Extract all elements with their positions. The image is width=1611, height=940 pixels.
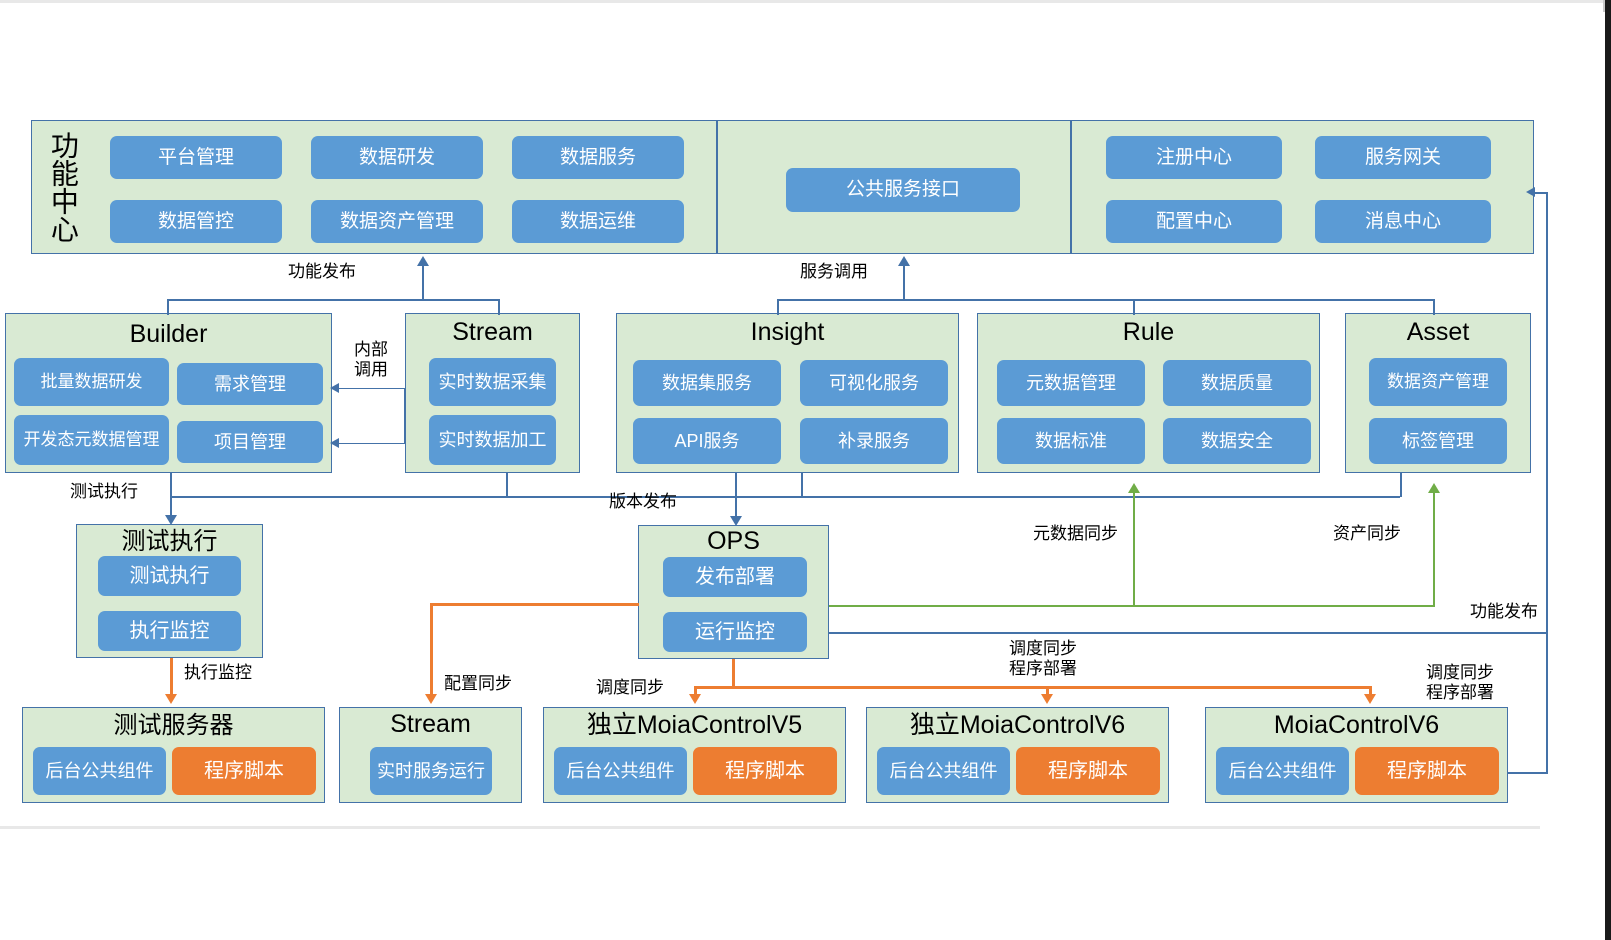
- chip-test-execution[interactable]: 测试执行: [98, 556, 241, 596]
- chip-requirement-management[interactable]: 需求管理: [177, 363, 323, 405]
- bus-right-top: [777, 299, 1434, 301]
- function-center-title-text: 功能中心: [48, 131, 78, 243]
- label-test-execute: 测试执行: [70, 482, 138, 502]
- page-edge-bottom: [0, 826, 1540, 829]
- chip-dataset-service[interactable]: 数据集服务: [633, 360, 781, 406]
- chip-label: 需求管理: [214, 374, 286, 394]
- chip-label: 数据集服务: [662, 373, 752, 393]
- chip-data-operation[interactable]: 数据运维: [512, 200, 684, 243]
- arrow-asset-sync: [1428, 483, 1440, 493]
- label-feature-publish-right: 功能发布: [1398, 602, 1538, 622]
- chip-label: 配置中心: [1156, 211, 1232, 232]
- chip-label: 执行监控: [130, 620, 210, 642]
- arrow-test-execute: [165, 515, 177, 525]
- arrow-metadata-sync: [1128, 483, 1140, 493]
- blue-right-riser: [1546, 192, 1548, 633]
- chip-backfill-service[interactable]: 补录服务: [800, 418, 948, 464]
- group-builder-title: Builder: [5, 322, 332, 347]
- chip-label: 实时数据加工: [439, 430, 547, 450]
- arrow-feature-publish-top: [417, 256, 429, 266]
- chip-label: 程序脚本: [725, 760, 805, 782]
- bus-left-drop-stream: [498, 299, 500, 315]
- label-metadata-sync: 元数据同步: [1033, 524, 1118, 544]
- group-insight-title: Insight: [616, 320, 959, 345]
- label-schedule-sync: 调度同步: [596, 678, 664, 698]
- blue-right-into-band: [1534, 192, 1548, 194]
- group-test-server-title: 测试服务器: [22, 714, 325, 738]
- chip-label: 数据运维: [560, 211, 636, 232]
- bus-left-drop-builder: [167, 299, 169, 315]
- chip-label: 实时服务运行: [377, 761, 485, 781]
- arrow-exec-monitor: [165, 694, 177, 704]
- arrow-internal-call-2: [330, 438, 339, 448]
- group-standalone-moiacontrolv5-title: 独立MoiaControlV5: [543, 713, 846, 738]
- chip-config-center[interactable]: 配置中心: [1106, 200, 1282, 243]
- label-feature-publish-top: 功能发布: [288, 262, 356, 282]
- chip-program-script-1[interactable]: 程序脚本: [172, 747, 316, 795]
- chip-label: 后台公共组件: [1229, 761, 1337, 781]
- bus-left-top: [167, 299, 500, 301]
- chip-label: 测试执行: [130, 565, 210, 587]
- chip-data-service[interactable]: 数据服务: [512, 136, 684, 179]
- chip-label: 数据质量: [1201, 373, 1273, 393]
- chip-label: 可视化服务: [829, 373, 919, 393]
- arrow-internal-call-1: [330, 383, 339, 393]
- chip-label: 元数据管理: [1026, 373, 1116, 393]
- chip-label: 注册中心: [1156, 147, 1232, 168]
- chip-data-standard[interactable]: 数据标准: [997, 418, 1145, 464]
- chip-data-asset-management[interactable]: 数据资产管理: [311, 200, 483, 243]
- orange-test-to-server: [170, 658, 173, 696]
- chip-data-security[interactable]: 数据安全: [1163, 418, 1311, 464]
- chip-service-gateway[interactable]: 服务网关: [1315, 136, 1491, 179]
- chip-batch-data-development[interactable]: 批量数据研发: [14, 358, 169, 406]
- bus-mid: [170, 496, 1400, 498]
- blue-ops-right: [829, 632, 1548, 634]
- bus-mid-to-ops: [735, 473, 737, 519]
- band-divider-1: [716, 121, 718, 253]
- arrow-service-call: [898, 256, 910, 266]
- chip-label: 标签管理: [1402, 431, 1474, 451]
- chip-label: 程序脚本: [204, 760, 284, 782]
- arrow-feature-publish-right: [1526, 187, 1535, 197]
- chip-label: 数据服务: [560, 147, 636, 168]
- chip-data-quality[interactable]: 数据质量: [1163, 360, 1311, 406]
- page-edge-right: [1605, 0, 1611, 940]
- chip-tag-management[interactable]: 标签管理: [1369, 418, 1507, 464]
- chip-realtime-data-collect[interactable]: 实时数据采集: [429, 358, 556, 406]
- chip-registry-center[interactable]: 注册中心: [1106, 136, 1282, 179]
- green-bus-from-ops: [829, 605, 1434, 607]
- blue-bottom-riser: [1546, 632, 1548, 774]
- chip-label: 运行监控: [695, 621, 775, 643]
- chip-label: 服务网关: [1365, 147, 1441, 168]
- bus-mid-drop-insight: [801, 473, 803, 497]
- chip-label: 后台公共组件: [567, 761, 675, 781]
- chip-label: 批量数据研发: [41, 372, 143, 391]
- chip-label: 数据资产管理: [1387, 372, 1489, 391]
- arrow-schedule-sync-v5: [689, 694, 701, 704]
- label-asset-sync: 资产同步: [1333, 524, 1401, 544]
- band-divider-2: [1070, 121, 1072, 253]
- group-test-execution-title: 测试执行: [76, 530, 263, 554]
- chip-public-service-interface[interactable]: 公共服务接口: [786, 168, 1020, 212]
- label-version-publish: 版本发布: [609, 492, 677, 512]
- arrow-version-publish: [730, 516, 742, 526]
- chip-label: 消息中心: [1365, 211, 1441, 232]
- group-asset-title: Asset: [1345, 320, 1531, 345]
- bus-right-drop-asset: [1433, 299, 1435, 315]
- chip-data-governance[interactable]: 数据管控: [110, 200, 282, 243]
- chip-platform-management[interactable]: 平台管理: [110, 136, 282, 179]
- chip-program-script-4[interactable]: 程序脚本: [1355, 747, 1499, 795]
- chip-label: 公共服务接口: [846, 179, 960, 200]
- chip-label: 发布部署: [695, 566, 775, 588]
- chip-label: 程序脚本: [1048, 760, 1128, 782]
- chip-label: 后台公共组件: [46, 761, 154, 781]
- chip-execution-monitor[interactable]: 执行监控: [98, 611, 241, 651]
- label-schedule-sync-deploy-1: 调度同步 程序部署: [960, 639, 1126, 679]
- orange-ops-left: [430, 603, 639, 606]
- label-internal-call: 内部 调用: [340, 340, 402, 380]
- internal-call-riser: [404, 388, 405, 444]
- green-riser-rule: [1133, 492, 1135, 607]
- chip-dev-metadata-management[interactable]: 开发态元数据管理: [14, 415, 169, 465]
- chip-label: 数据资产管理: [340, 211, 454, 232]
- group-standalone-moiacontrolv6-title: 独立MoiaControlV6: [866, 713, 1169, 738]
- bus-left-riser: [422, 264, 424, 300]
- arrow-config-sync: [425, 694, 437, 704]
- chip-realtime-service-run[interactable]: 实时服务运行: [370, 747, 492, 795]
- group-rule-title: Rule: [977, 320, 1320, 345]
- chip-backend-common-component-3[interactable]: 后台公共组件: [877, 747, 1010, 795]
- chip-release-deploy[interactable]: 发布部署: [663, 557, 807, 597]
- chip-label: 数据研发: [359, 147, 435, 168]
- chip-label: 开发态元数据管理: [24, 430, 160, 449]
- group-moiacontrolv6-title: MoiaControlV6: [1205, 713, 1508, 738]
- chip-label: 项目管理: [214, 432, 286, 452]
- chip-label: 数据管控: [158, 211, 234, 232]
- chip-backend-common-component-4[interactable]: 后台公共组件: [1216, 747, 1349, 795]
- label-schedule-sync-deploy-2: 调度同步 程序部署: [1377, 663, 1543, 703]
- chip-realtime-data-process[interactable]: 实时数据加工: [429, 415, 556, 465]
- chip-visualization-service[interactable]: 可视化服务: [800, 360, 948, 406]
- orange-ops-bottom-stem: [732, 659, 735, 687]
- bus-mid-drop-stream: [506, 473, 508, 497]
- chip-label: API服务: [674, 431, 739, 451]
- chip-backend-common-component-2[interactable]: 后台公共组件: [554, 747, 687, 795]
- function-center-title: 功能中心: [40, 124, 86, 250]
- bus-mid-to-test: [170, 473, 172, 518]
- chip-asset-data-asset-management[interactable]: 数据资产管理: [1369, 358, 1507, 406]
- chip-metadata-management[interactable]: 元数据管理: [997, 360, 1145, 406]
- bus-right-drop-rule: [1133, 299, 1135, 315]
- blue-bottom-right: [1508, 772, 1548, 774]
- bus-right-riser: [903, 264, 905, 300]
- chip-data-development[interactable]: 数据研发: [311, 136, 483, 179]
- label-service-call: 服务调用: [800, 262, 868, 282]
- orange-to-stream-runtime: [430, 603, 433, 696]
- internal-call-line-2: [338, 443, 405, 444]
- page-edge-top: [0, 0, 1611, 3]
- page-edge-right-tick: [1603, 0, 1605, 12]
- label-exec-monitor: 执行监控: [184, 663, 252, 683]
- chip-program-script-2[interactable]: 程序脚本: [693, 747, 837, 795]
- chip-project-management[interactable]: 项目管理: [177, 421, 323, 463]
- group-ops-title: OPS: [638, 529, 829, 554]
- arrow-schedule-sync-standalone-v6: [1041, 694, 1053, 704]
- chip-label: 数据标准: [1035, 431, 1107, 451]
- chip-program-script-3[interactable]: 程序脚本: [1016, 747, 1160, 795]
- chip-backend-common-component-1[interactable]: 后台公共组件: [33, 747, 166, 795]
- chip-api-service[interactable]: API服务: [633, 418, 781, 464]
- chip-label: 程序脚本: [1387, 760, 1467, 782]
- label-config-sync: 配置同步: [444, 674, 512, 694]
- chip-label: 补录服务: [838, 431, 910, 451]
- bus-mid-drop-rule: [1400, 473, 1402, 497]
- chip-label: 数据安全: [1201, 431, 1273, 451]
- chip-runtime-monitor[interactable]: 运行监控: [663, 612, 807, 652]
- chip-message-center[interactable]: 消息中心: [1315, 200, 1491, 243]
- arrow-schedule-sync-v6: [1364, 694, 1376, 704]
- orange-ops-bottom-bus: [694, 686, 1372, 689]
- chip-label: 实时数据采集: [439, 372, 547, 392]
- group-stream-runtime-title: Stream: [339, 712, 522, 737]
- bus-right-drop-insight: [777, 299, 779, 315]
- chip-label: 后台公共组件: [890, 761, 998, 781]
- green-riser-asset: [1433, 492, 1435, 607]
- internal-call-line-1: [338, 388, 405, 389]
- chip-label: 平台管理: [158, 147, 234, 168]
- group-stream-title: Stream: [405, 320, 580, 345]
